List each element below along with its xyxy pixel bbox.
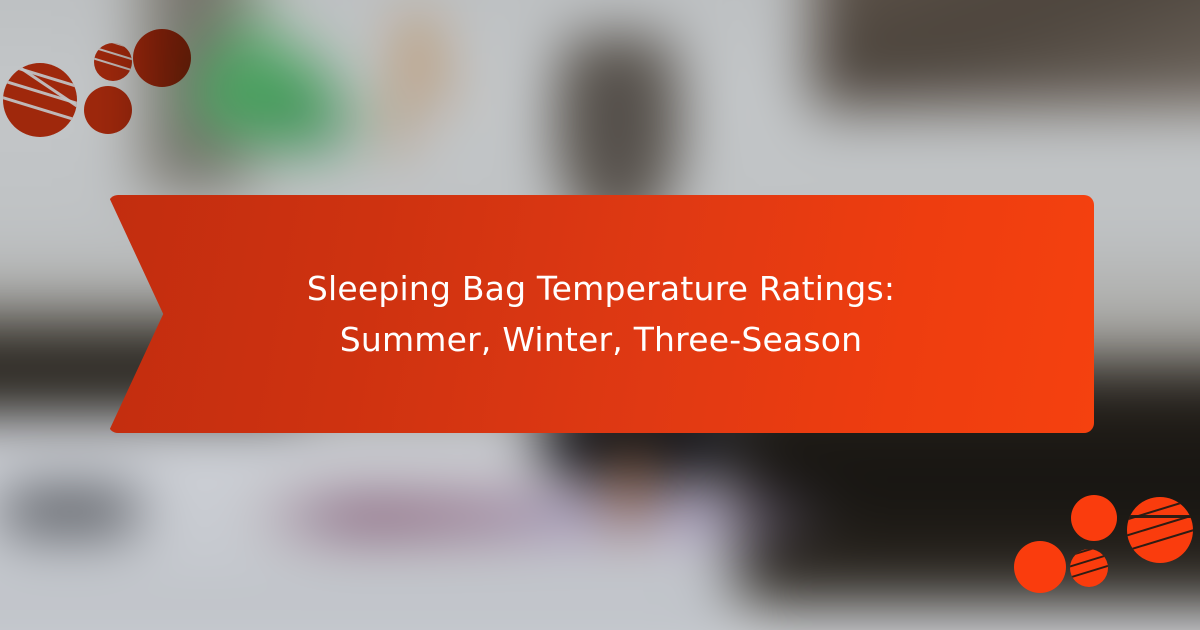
- circle-plain-medium: [1071, 495, 1117, 541]
- stripe-overlay-icon: [1127, 497, 1193, 563]
- decor-cluster-bottom-right: [0, 0, 1200, 630]
- circle-plain-large: [1014, 541, 1066, 593]
- circle-striped-small: [1070, 549, 1108, 587]
- stripe-overlay-icon: [1070, 549, 1108, 587]
- social-card: Sleeping Bag Temperature Ratings: Summer…: [0, 0, 1200, 630]
- circle-striped-large: [1127, 497, 1193, 563]
